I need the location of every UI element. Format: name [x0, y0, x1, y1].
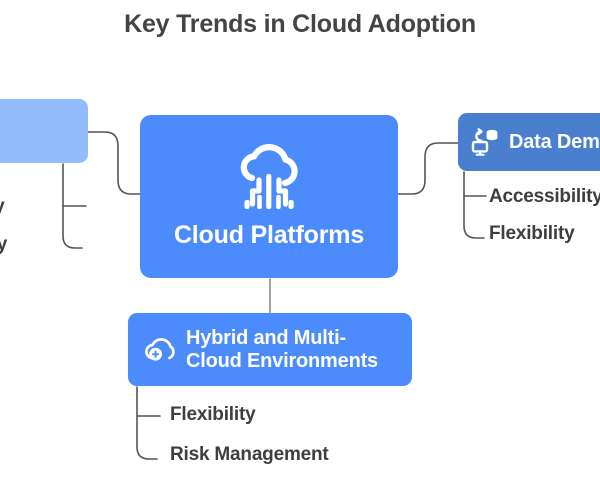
node-cloud-platforms[interactable]: Cloud Platforms: [140, 115, 398, 278]
node-bottom-label: Hybrid and Multi- Cloud Environments: [186, 327, 378, 373]
leaf-left-scalability[interactable]: bility: [0, 234, 7, 256]
node-bottom-label-line2: Cloud Environments: [186, 350, 378, 373]
node-hybrid-multicloud[interactable]: Hybrid and Multi- Cloud Environments: [128, 313, 412, 386]
leaf-bottom-risk-management[interactable]: Risk Management: [170, 444, 329, 466]
cloud-computing-icon: [230, 144, 308, 218]
cloud-plus-shield-icon: [142, 333, 176, 367]
connector-center-to-right: [398, 143, 459, 194]
node-right-label: Data Dem: [509, 131, 600, 153]
node-bottom-label-line1: Hybrid and Multi-: [186, 327, 378, 350]
leaf-spine-right: [464, 172, 484, 238]
connector-center-to-left: [88, 132, 141, 194]
node-center-label: Cloud Platforms: [174, 222, 364, 248]
leaf-right-accessibility[interactable]: Accessibility: [489, 186, 600, 208]
leaf-spine-bottom: [137, 387, 157, 459]
node-left-branch[interactable]: tive ent: [0, 99, 88, 163]
leaf-spine-left: [63, 164, 82, 248]
leaf-left-efficiency[interactable]: ency: [0, 196, 5, 218]
node-data-democratization[interactable]: Data Dem: [458, 113, 600, 171]
page-title: Key Trends in Cloud Adoption: [0, 10, 600, 39]
leaf-right-flexibility[interactable]: Flexibility: [489, 223, 574, 245]
data-sync-database-icon: [470, 127, 500, 157]
leaf-bottom-flexibility[interactable]: Flexibility: [170, 404, 255, 426]
